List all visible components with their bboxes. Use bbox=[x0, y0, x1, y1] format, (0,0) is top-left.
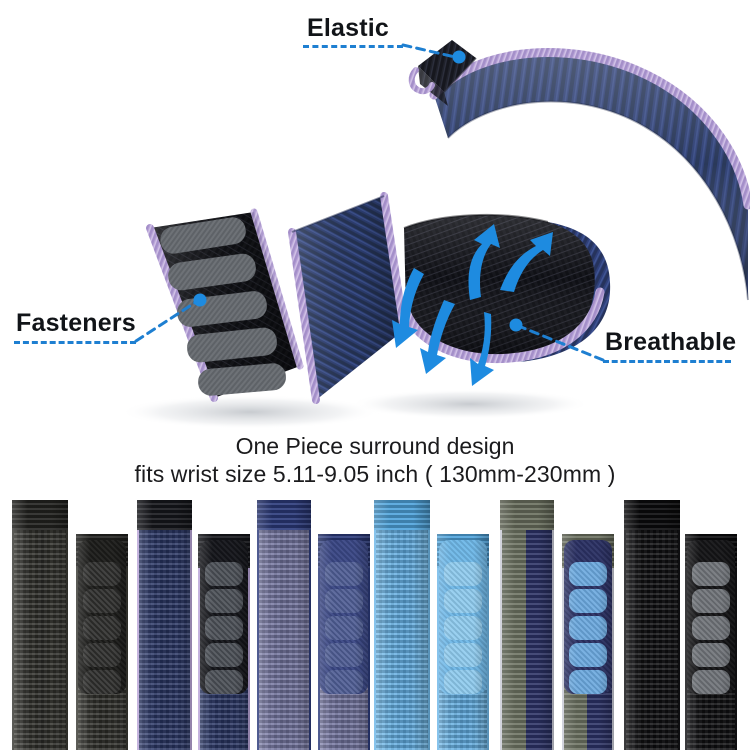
color-variant-strip[interactable] bbox=[12, 500, 68, 750]
shadow bbox=[350, 389, 590, 419]
callout-dot-elastic bbox=[453, 51, 466, 64]
strip-shading bbox=[12, 500, 68, 750]
size-caption: One Piece surround design fits wrist siz… bbox=[0, 432, 750, 488]
color-variant-strip[interactable] bbox=[624, 500, 680, 750]
color-variant-strip[interactable] bbox=[374, 500, 430, 750]
strip-shading bbox=[318, 534, 370, 750]
strip-shading bbox=[437, 534, 489, 750]
strip-shading bbox=[374, 500, 430, 750]
band-illustration bbox=[0, 0, 750, 430]
strip-shading bbox=[685, 534, 737, 750]
callout-dot-breathable bbox=[510, 319, 523, 332]
callout-dot-fasteners bbox=[194, 294, 207, 307]
color-variant-strip[interactable] bbox=[685, 534, 737, 750]
product-infographic: Elastic Fasteners Breathable One Piece s… bbox=[0, 0, 750, 750]
strip-shading bbox=[198, 534, 250, 750]
product-photo-main bbox=[0, 0, 750, 430]
callout-rule-breathable bbox=[603, 360, 731, 363]
callout-label-breathable: Breathable bbox=[605, 330, 736, 355]
callout-label-elastic: Elastic bbox=[307, 16, 389, 41]
callout-label-fasteners: Fasteners bbox=[16, 311, 136, 336]
color-variant-strip[interactable] bbox=[137, 500, 192, 750]
color-variant-strip[interactable] bbox=[318, 534, 370, 750]
shadow bbox=[120, 395, 380, 429]
band-fastener-panel bbox=[150, 212, 300, 398]
strip-shading bbox=[500, 500, 554, 750]
color-variant-strip[interactable] bbox=[198, 534, 250, 750]
callout-rule-fasteners bbox=[14, 341, 136, 344]
callout-rule-elastic bbox=[303, 45, 403, 48]
caption-line-1: One Piece surround design bbox=[0, 432, 750, 460]
strip-shading bbox=[137, 500, 192, 750]
caption-line-2: fits wrist size 5.11-9.05 inch ( 130mm-2… bbox=[0, 460, 750, 488]
color-variant-strip[interactable] bbox=[437, 534, 489, 750]
color-variant-strip[interactable] bbox=[257, 500, 311, 750]
color-variant-row bbox=[0, 498, 750, 750]
strip-shading bbox=[257, 500, 311, 750]
strip-shading bbox=[76, 534, 128, 750]
color-variant-strip[interactable] bbox=[500, 500, 554, 750]
color-variant-strip[interactable] bbox=[562, 534, 614, 750]
color-variant-strip[interactable] bbox=[76, 534, 128, 750]
strip-shading bbox=[624, 500, 680, 750]
strip-shading bbox=[562, 534, 614, 750]
band-middle-panel bbox=[292, 196, 404, 400]
